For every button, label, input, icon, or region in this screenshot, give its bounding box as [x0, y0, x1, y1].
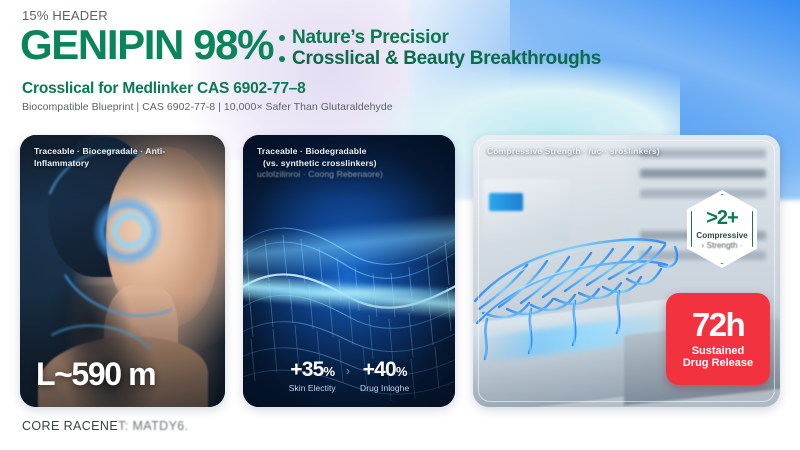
- footer-caption-smear: T: MATDY6.: [118, 419, 188, 433]
- hex-badge-value: >2+: [706, 208, 737, 228]
- card-mesh-tag-line2: (vs. synthetic crosslinkers): [257, 158, 445, 170]
- mesh-stat-1-value: +35%: [289, 359, 336, 380]
- headline-bullets: Nature’s Precisior Crosslical & Beauty B…: [279, 27, 601, 70]
- card-portrait-tag: Traceable · Biocegradale · Anti-Inflamma…: [34, 146, 215, 169]
- mesh-stat-1-unit: %: [323, 364, 334, 379]
- mesh-stat-1-number: +35: [290, 358, 323, 381]
- card-mesh-tag: Traceable · Biodegradable (vs. synthetic…: [257, 146, 445, 181]
- meta-line: Biocompatible Blueprint | CAS 6902-77-8 …: [22, 101, 393, 113]
- mesh-stat-2-label: Drug Inloghe: [360, 383, 409, 393]
- card-portrait-stat: L~590 m: [36, 356, 155, 393]
- card-mesh-tag-line3: uclolzilinroi · Coong Rebenaore): [257, 169, 445, 181]
- mesh-stat-2-value: +40%: [360, 359, 409, 380]
- page-title: GENIPIN 98%: [20, 24, 273, 66]
- sustained-release-badge[interactable]: 72h Sustained Drug Release: [666, 293, 770, 385]
- card-lab[interactable]: Compressive Strength · /uc·· sroslinkers…: [473, 135, 780, 407]
- subheadline: Crosslical for Medlinker CAS 6902-77–8: [22, 80, 306, 98]
- footer-caption-clear: CORE RACENE: [22, 419, 118, 433]
- headline-bullet-1: Nature’s Precisior: [279, 27, 601, 48]
- mesh-stat-2: +40% Drug Inloghe: [360, 359, 409, 393]
- bullet-dot-icon: [279, 56, 285, 62]
- mesh-stats-row: +35% Skin Electity › +40% Drug Inloghe: [243, 359, 455, 393]
- headline-bullet-2-text: Crosslical & Beauty Breakthroughs: [292, 48, 601, 69]
- headline-row: GENIPIN 98% Nature’s Precisior Crosslica…: [20, 24, 790, 70]
- card-portrait[interactable]: Traceable · Biocegradale · Anti-Inflamma…: [20, 135, 225, 407]
- footer-caption: CORE RACENET: MATDY6.: [22, 419, 189, 433]
- mesh-stat-2-unit: %: [396, 364, 407, 379]
- headline-bullet-2: Crosslical & Beauty Breakthroughs: [279, 48, 601, 69]
- mesh-stat-2-number: +40: [363, 358, 396, 381]
- chevron-right-icon: ›: [346, 363, 350, 378]
- red-badge-label-2: Drug Release: [683, 357, 753, 369]
- mesh-stat-1-label: Skin Electity: [289, 383, 336, 393]
- red-badge-label-1: Sustained: [692, 345, 745, 357]
- red-badge-value: 72h: [692, 309, 744, 340]
- card-mesh[interactable]: Traceable · Biodegradable (vs. synthetic…: [243, 135, 455, 407]
- compressive-strength-badge[interactable]: >2+ Compressive › Strength ·: [687, 190, 757, 268]
- hex-badge-label-2: › Strength ·: [702, 241, 743, 250]
- headline-bullet-1-text: Nature’s Precisior: [292, 27, 449, 48]
- hex-badge-label-1: Compressive: [696, 231, 747, 240]
- card-lab-tag: Compressive Strength · /uc·· sroslinkers…: [487, 146, 770, 158]
- mesh-stat-1: +35% Skin Electity: [289, 359, 336, 393]
- slide-canvas: 15% HEADER GENIPIN 98% Nature’s Precisio…: [0, 0, 800, 450]
- card-mesh-tag-line1: Traceable · Biodegradable: [257, 146, 445, 158]
- cards-row: Traceable · Biocegradale · Anti-Inflamma…: [0, 135, 800, 410]
- bullet-dot-icon: [279, 35, 285, 41]
